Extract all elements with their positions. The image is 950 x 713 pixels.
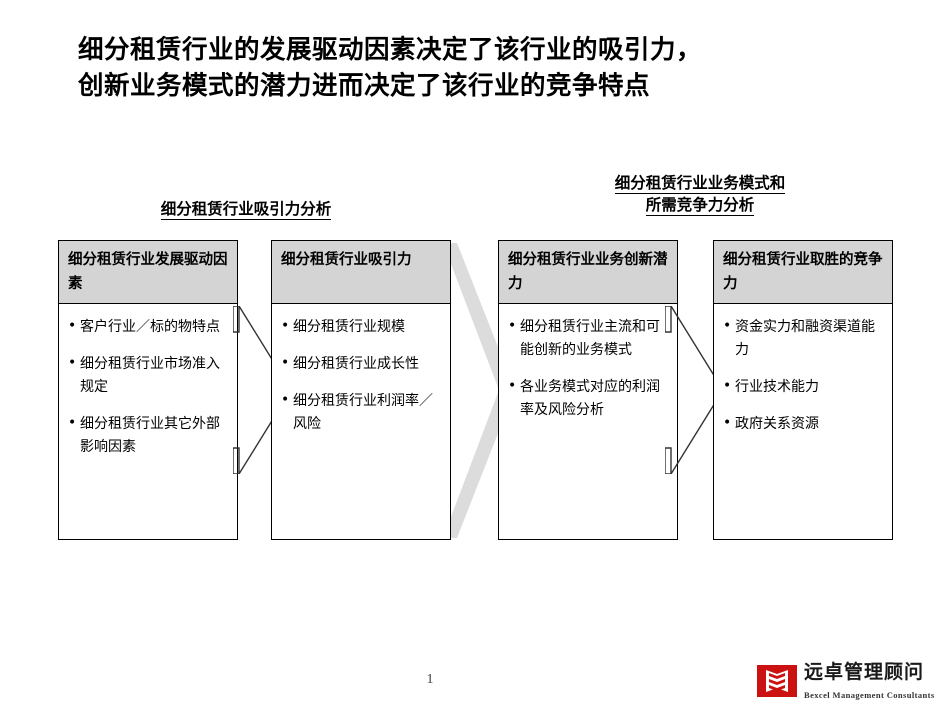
section-header-left: 细分租赁行业吸引力分析 — [56, 198, 436, 220]
logo-text-cn: 远卓管理顾问 — [804, 661, 924, 683]
process-box-drivers-body: 客户行业／标的物特点 细分租赁行业市场准入规定 细分租赁行业其它外部影响因素 — [59, 304, 237, 459]
page-number: 1 — [0, 672, 860, 688]
process-box-attractiveness-body: 细分租赁行业规模 细分租赁行业成长性 细分租赁行业利润率／风险 — [272, 304, 450, 436]
list-item: 细分租赁行业市场准入规定 — [68, 353, 230, 399]
list-item: 行业技术能力 — [723, 376, 885, 399]
list-item: 政府关系资源 — [723, 413, 885, 436]
process-box-attractiveness-header: 细分租赁行业吸引力 — [272, 241, 450, 304]
page-title: 细分租赁行业的发展驱动因素决定了该行业的吸引力， 创新业务模式的潜力进而决定了该… — [78, 32, 898, 104]
list-item: 细分租赁行业成长性 — [281, 353, 443, 376]
list-item: 客户行业／标的物特点 — [68, 316, 230, 339]
list-item: 资金实力和融资渠道能力 — [723, 316, 885, 362]
logo-text: 远卓管理顾问 Bexcel Management Consultants — [804, 661, 935, 702]
list-item: 细分租赁行业规模 — [281, 316, 443, 339]
list-item: 细分租赁行业主流和可能创新的业务模式 — [508, 316, 670, 362]
company-logo: 远卓管理顾问 Bexcel Management Consultants — [757, 659, 925, 703]
process-box-innovation-potential-body: 细分租赁行业主流和可能创新的业务模式 各业务模式对应的利润率及风险分析 — [499, 304, 677, 422]
process-box-innovation-potential-header: 细分租赁行业业务创新潜力 — [499, 241, 677, 304]
bexcel-logo-mark-icon — [757, 665, 797, 697]
process-box-attractiveness: 细分租赁行业吸引力 细分租赁行业规模 细分租赁行业成长性 细分租赁行业利润率／风… — [271, 240, 451, 540]
section-header-left-line-1: 细分租赁行业吸引力分析 — [161, 198, 332, 220]
title-line-2: 创新业务模式的潜力进而决定了该行业的竞争特点 — [78, 68, 898, 104]
title-line-1: 细分租赁行业的发展驱动因素决定了该行业的吸引力， — [78, 32, 898, 68]
section-header-right-line-2: 所需竞争力分析 — [646, 194, 755, 216]
list-item: 细分租赁行业利润率／风险 — [281, 390, 443, 436]
process-box-winning-competencies: 细分租赁行业取胜的竞争力 资金实力和融资渠道能力 行业技术能力 政府关系资源 — [713, 240, 893, 540]
process-box-innovation-potential: 细分租赁行业业务创新潜力 细分租赁行业主流和可能创新的业务模式 各业务模式对应的… — [498, 240, 678, 540]
process-box-winning-competencies-body: 资金实力和融资渠道能力 行业技术能力 政府关系资源 — [714, 304, 892, 436]
section-header-right-line-1: 细分租赁行业业务模式和 — [615, 172, 786, 194]
process-box-winning-competencies-header: 细分租赁行业取胜的竞争力 — [714, 241, 892, 304]
section-header-right: 细分租赁行业业务模式和 所需竞争力分析 — [500, 172, 900, 216]
list-item: 各业务模式对应的利润率及风险分析 — [508, 376, 670, 422]
process-box-drivers-header: 细分租赁行业发展驱动因素 — [59, 241, 237, 304]
slide-canvas: 细分租赁行业的发展驱动因素决定了该行业的吸引力， 创新业务模式的潜力进而决定了该… — [0, 0, 950, 713]
list-item: 细分租赁行业其它外部影响因素 — [68, 413, 230, 459]
logo-text-en: Bexcel Management Consultants — [804, 690, 935, 700]
process-box-drivers: 细分租赁行业发展驱动因素 客户行业／标的物特点 细分租赁行业市场准入规定 细分租… — [58, 240, 238, 540]
